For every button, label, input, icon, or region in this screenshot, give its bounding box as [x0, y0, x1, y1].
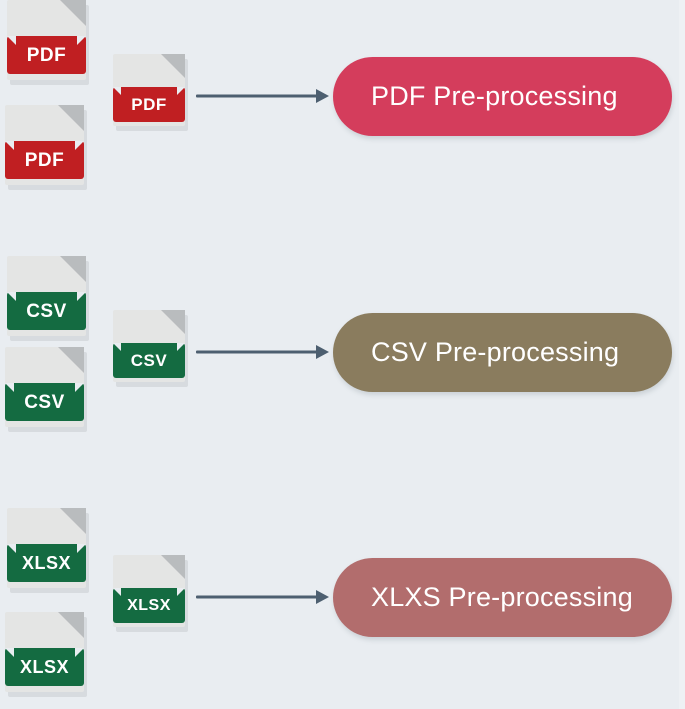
pill-label: XLXS Pre-processing	[333, 582, 633, 613]
ribbon-notch-left-icon	[7, 292, 16, 301]
arrow-xlsx-icon	[196, 589, 329, 605]
ribbon-notch-left-icon	[113, 588, 121, 596]
ribbon-notch-left-icon	[113, 343, 121, 351]
file-banner: XLSX	[113, 588, 185, 623]
ribbon-notch-right-icon	[75, 141, 84, 150]
file-banner-fill: PDF	[113, 87, 185, 122]
arrow-head	[316, 89, 329, 103]
page-fold-icon	[161, 555, 185, 579]
file-banner-label: XLSX	[20, 658, 69, 676]
file-banner-label: PDF	[131, 96, 167, 113]
file-banner: CSV	[5, 383, 84, 421]
file-banner: XLSX	[5, 648, 84, 686]
page-fold-icon	[60, 508, 86, 534]
file-banner-label: XLSX	[127, 598, 171, 614]
file-banner: PDF	[7, 36, 86, 74]
ribbon-notch-right-icon	[77, 544, 86, 553]
arrow-shaft	[196, 596, 318, 599]
file-icon-xlsx-merged[interactable]: XLSX	[113, 555, 185, 627]
file-banner: PDF	[113, 87, 185, 122]
file-banner: XLSX	[7, 544, 86, 582]
page-fold-icon	[60, 256, 86, 282]
file-banner-fill: CSV	[7, 292, 86, 330]
ribbon-notch-right-icon	[75, 383, 84, 392]
ribbon-notch-left-icon	[5, 383, 14, 392]
ribbon-notch-right-icon	[77, 36, 86, 45]
file-icon-csv-merged[interactable]: CSV	[113, 310, 185, 382]
pipeline-diagram: PDF PDF PDF	[0, 0, 685, 709]
arrow-shaft	[196, 351, 318, 354]
page-fold-icon	[58, 347, 84, 373]
arrow-shaft	[196, 95, 318, 98]
file-banner-fill: CSV	[113, 343, 185, 378]
right-edge-strip	[679, 0, 685, 709]
ribbon-notch-left-icon	[5, 141, 14, 150]
ribbon-notch-right-icon	[75, 648, 84, 657]
arrow-pdf-icon	[196, 88, 329, 104]
arrow-csv-icon	[196, 344, 329, 360]
file-banner-label: CSV	[26, 302, 67, 321]
ribbon-notch-left-icon	[113, 87, 121, 95]
file-icon-xlsx-source-2[interactable]: XLSX	[5, 612, 84, 692]
pill-label: CSV Pre-processing	[333, 337, 619, 368]
page-fold-icon	[161, 310, 185, 334]
ribbon-notch-right-icon	[177, 87, 185, 95]
file-icon-pdf-source-2[interactable]: PDF	[5, 105, 84, 185]
page-fold-icon	[58, 612, 84, 638]
ribbon-notch-left-icon	[5, 648, 14, 657]
file-banner-label: XLSX	[22, 554, 71, 572]
page-fold-icon	[161, 54, 185, 78]
pill-pdf-preprocessing[interactable]: PDF Pre-processing	[333, 57, 672, 136]
file-icon-pdf-source-1[interactable]: PDF	[7, 0, 86, 80]
file-banner: PDF	[5, 141, 84, 179]
ribbon-notch-left-icon	[7, 36, 16, 45]
file-banner-label: CSV	[131, 352, 167, 369]
file-icon-xlsx-source-1[interactable]: XLSX	[7, 508, 86, 588]
file-banner: CSV	[7, 292, 86, 330]
file-banner-fill: CSV	[5, 383, 84, 421]
pill-csv-preprocessing[interactable]: CSV Pre-processing	[333, 313, 672, 392]
ribbon-notch-right-icon	[177, 343, 185, 351]
file-icon-pdf-merged[interactable]: PDF	[113, 54, 185, 126]
file-banner-fill: PDF	[7, 36, 86, 74]
file-banner: CSV	[113, 343, 185, 378]
file-icon-csv-source-1[interactable]: CSV	[7, 256, 86, 336]
page-fold-icon	[60, 0, 86, 26]
pill-label: PDF Pre-processing	[333, 81, 618, 112]
page-fold-icon	[58, 105, 84, 131]
file-banner-fill: XLSX	[7, 544, 86, 582]
file-banner-fill: PDF	[5, 141, 84, 179]
arrow-head	[316, 345, 329, 359]
file-icon-csv-source-2[interactable]: CSV	[5, 347, 84, 427]
file-banner-label: PDF	[25, 151, 65, 170]
pill-xlsx-preprocessing[interactable]: XLXS Pre-processing	[333, 558, 672, 637]
file-banner-label: PDF	[27, 46, 67, 65]
arrow-head	[316, 590, 329, 604]
file-banner-label: CSV	[24, 393, 65, 412]
file-banner-fill: XLSX	[5, 648, 84, 686]
file-banner-fill: XLSX	[113, 588, 185, 623]
ribbon-notch-left-icon	[7, 544, 16, 553]
ribbon-notch-right-icon	[177, 588, 185, 596]
ribbon-notch-right-icon	[77, 292, 86, 301]
